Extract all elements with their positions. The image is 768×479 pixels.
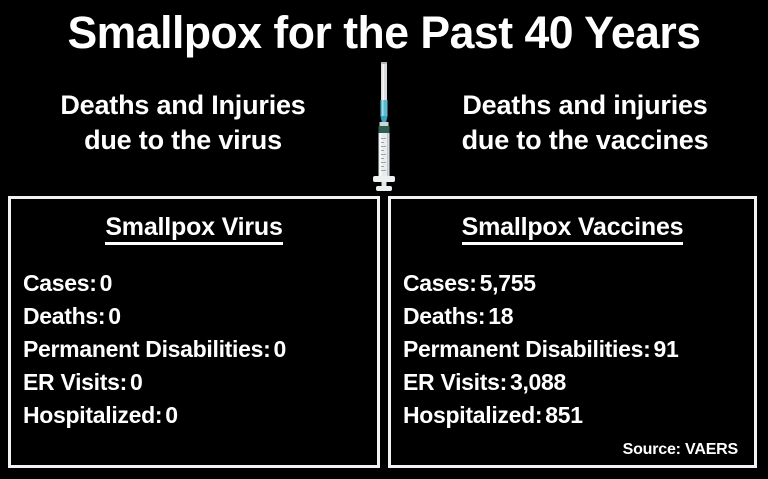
stat-row: Cases:0 — [23, 267, 377, 300]
stat-label: Deaths: — [403, 303, 485, 329]
stat-value: 0 — [270, 336, 286, 362]
stat-row: Deaths:0 — [23, 300, 377, 333]
panel-right-heading: Smallpox Vaccines — [391, 212, 754, 242]
page-title: Smallpox for the Past 40 Years — [4, 6, 764, 60]
stat-label: Permanent Disabilities: — [23, 336, 270, 362]
panel-right-heading-text: Smallpox Vaccines — [462, 213, 684, 245]
panel-right-stats: Cases:5,755 Deaths:18 Permanent Disabili… — [391, 267, 754, 432]
stat-value: 0 — [97, 270, 113, 296]
stat-row: Hospitalized:0 — [23, 399, 377, 432]
syringe-icon — [370, 62, 398, 192]
stat-label: Hospitalized: — [23, 402, 162, 428]
panel-left-heading-text: Smallpox Virus — [105, 213, 282, 245]
stat-label: Cases: — [403, 270, 477, 296]
stat-label: Hospitalized: — [403, 402, 542, 428]
stat-value: 0 — [105, 303, 121, 329]
subtitle-right-line1: Deaths and injuries — [410, 88, 760, 123]
stat-value: 5,755 — [477, 270, 536, 296]
stat-row: ER Visits:0 — [23, 366, 377, 399]
stat-row: Permanent Disabilities:91 — [403, 333, 754, 366]
panel-left-heading: Smallpox Virus — [11, 212, 377, 242]
stat-value: 0 — [162, 402, 178, 428]
stat-label: Permanent Disabilities: — [403, 336, 650, 362]
stat-row: ER Visits:3,088 — [403, 366, 754, 399]
panel-smallpox-virus: Smallpox Virus Cases:0 Deaths:0 Permanen… — [8, 196, 380, 468]
stat-value: 18 — [485, 303, 513, 329]
stat-label: ER Visits: — [403, 369, 507, 395]
panels-container: Smallpox Virus Cases:0 Deaths:0 Permanen… — [0, 196, 768, 472]
stat-value: 0 — [127, 369, 143, 395]
panel-smallpox-vaccines: Smallpox Vaccines Cases:5,755 Deaths:18 … — [388, 196, 757, 468]
subtitle-left: Deaths and Injuries due to the virus — [8, 88, 358, 158]
subtitle-right: Deaths and injuries due to the vaccines — [410, 88, 760, 158]
stat-row: Permanent Disabilities:0 — [23, 333, 377, 366]
stat-value: 3,088 — [507, 369, 566, 395]
stat-label: Cases: — [23, 270, 97, 296]
stat-label: Deaths: — [23, 303, 105, 329]
stat-row: Deaths:18 — [403, 300, 754, 333]
stat-value: 91 — [650, 336, 678, 362]
panel-left-stats: Cases:0 Deaths:0 Permanent Disabilities:… — [11, 267, 377, 432]
subtitle-left-line1: Deaths and Injuries — [8, 88, 358, 123]
subtitle-left-line2: due to the virus — [8, 123, 358, 158]
stat-value: 851 — [542, 402, 582, 428]
infographic-root: Smallpox for the Past 40 Years Deaths an… — [0, 0, 768, 479]
subtitle-right-line2: due to the vaccines — [410, 123, 760, 158]
stat-row: Hospitalized:851 — [403, 399, 754, 432]
stat-row: Cases:5,755 — [403, 267, 754, 300]
source-attribution: Source: VAERS — [623, 441, 738, 459]
stat-label: ER Visits: — [23, 369, 127, 395]
